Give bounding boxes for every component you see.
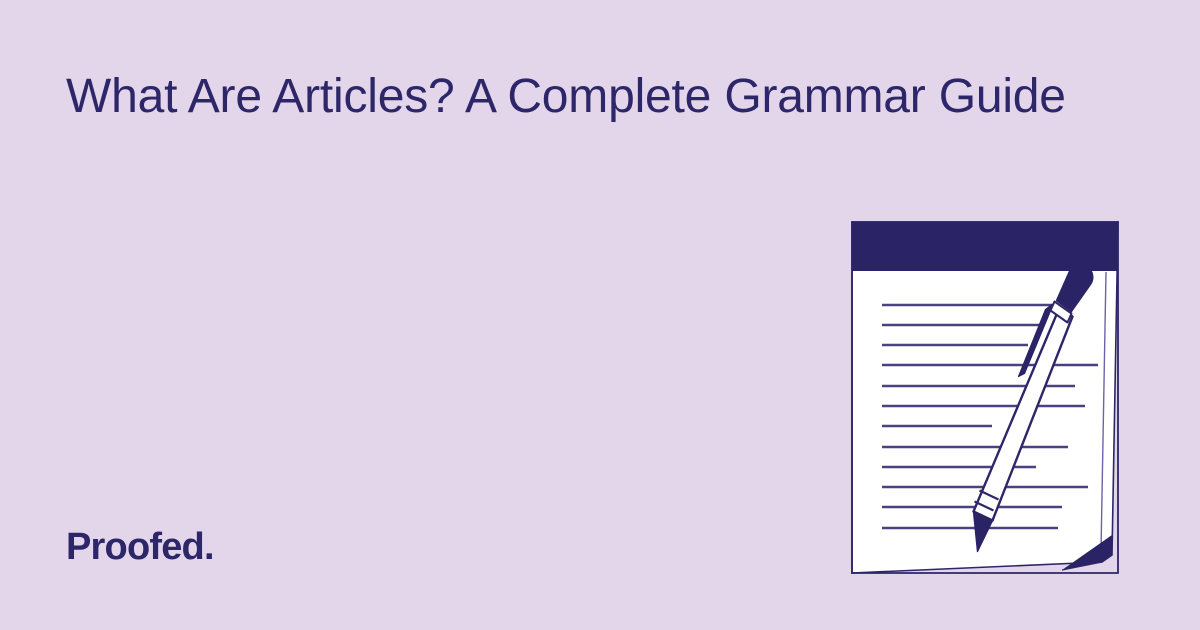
page-title: What Are Articles? A Complete Grammar Gu… [66,68,1156,126]
social-share-card: What Are Articles? A Complete Grammar Gu… [0,0,1200,630]
brand-logo-proofed: Proofed. [66,524,214,570]
notepad-header-bar [852,222,1118,271]
notepad-with-pen-illustration [840,210,1140,588]
